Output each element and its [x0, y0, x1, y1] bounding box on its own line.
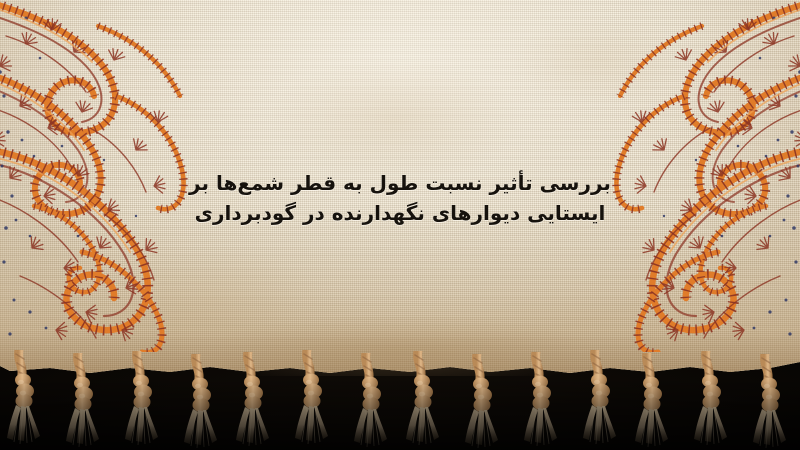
boteh-motif-lower [0, 150, 148, 330]
boteh-motif-lower [652, 150, 800, 330]
title-card-canvas: بررسی تأثیر نسبت طول به قطر شمع‌ها بر ای… [0, 0, 800, 450]
ornament-corner-top-left [0, 0, 296, 352]
ornament-corner-top-right [504, 0, 800, 352]
